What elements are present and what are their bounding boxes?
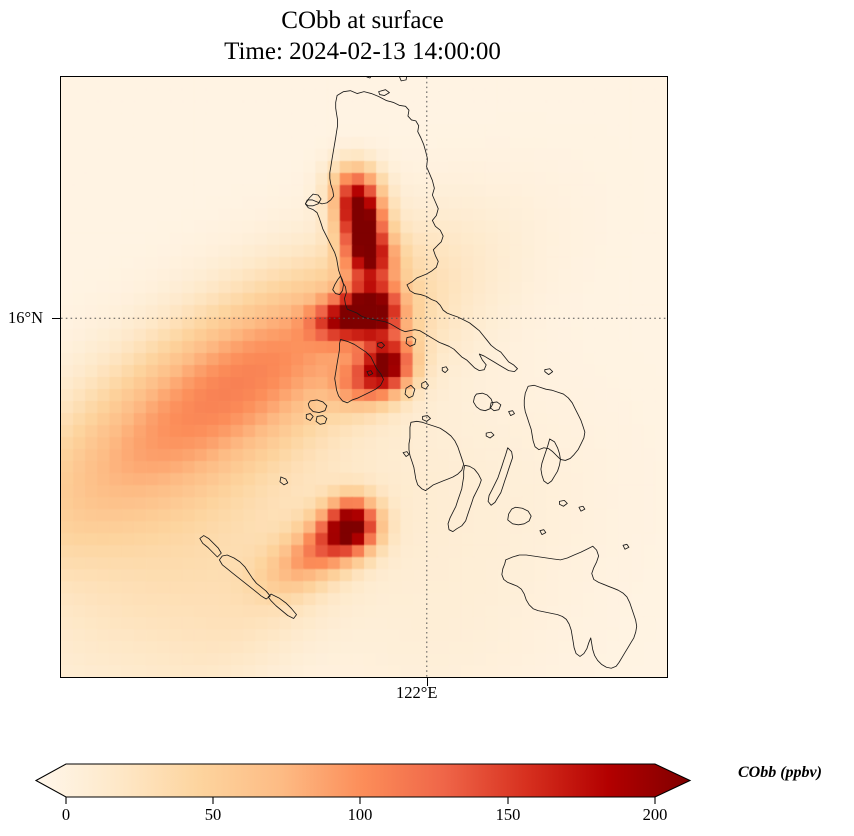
colorbar-tick-150: 150 [496,805,521,825]
colorbar-tick-0: 0 [62,805,70,825]
colorbar-tick-100: 100 [348,805,373,825]
figure-title: CObb at surface Time: 2024-02-13 14:00:0… [0,6,725,67]
map-plot-area [60,76,668,678]
gridline-overlay [61,77,667,677]
colorbar-tick-200: 200 [643,805,668,825]
title-timestamp: Time: 2024-02-13 14:00:00 [0,37,725,68]
colorbar-gradient [0,752,854,812]
colorbar-axis-label: CObb (ppbv) [738,764,822,782]
axis-label-longitude-122e: 122°E [396,683,437,703]
tick-mark-16n [52,318,60,319]
figure-root: CObb at surface Time: 2024-02-13 14:00:0… [0,0,854,836]
colorbar: 0 50 100 150 200 CObb (ppbv) [0,752,854,836]
title-primary: CObb at surface [0,6,725,37]
axis-label-latitude-16n: 16°N [8,308,43,328]
colorbar-body [36,764,690,797]
colorbar-ticks [66,797,655,804]
colorbar-tick-50: 50 [205,805,222,825]
